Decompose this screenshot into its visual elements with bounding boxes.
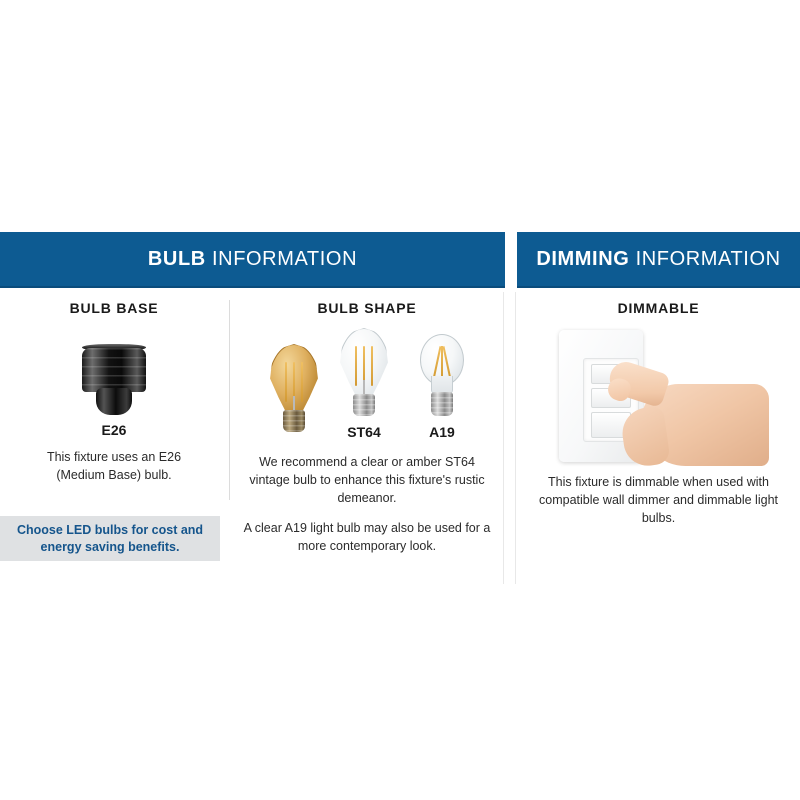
bulb-shape-paragraph-2: A clear A19 light bulb may also be used … xyxy=(232,520,502,556)
bulb-and-dimming-info-graphic: BULB INFORMATION DIMMING INFORMATION BUL… xyxy=(0,0,800,800)
bulb-information-title-bold: BULB xyxy=(148,248,206,270)
hand-thumb-shape xyxy=(619,405,671,469)
bulb-screw-base-shape xyxy=(283,410,305,432)
e26-screw-base-icon xyxy=(0,332,228,418)
panel-divider-right xyxy=(515,292,516,584)
bulb-screw-base-shape xyxy=(353,394,375,416)
e26-tip-shape xyxy=(96,388,132,415)
bulb-screw-base-shape xyxy=(431,392,453,416)
bulb-information-title-rest: INFORMATION xyxy=(206,248,357,270)
dimmable-heading: DIMMABLE xyxy=(517,300,800,316)
dimmable-description: This fixture is dimmable when used with … xyxy=(517,474,800,527)
panel-divider-left xyxy=(503,292,504,584)
bulb-shape-heading: BULB SHAPE xyxy=(232,300,502,316)
hand-illustration xyxy=(605,352,769,466)
hand-index-finger-shape xyxy=(605,358,671,408)
st64-amber-bulb-icon xyxy=(268,344,320,434)
bulb-base-description: This fixture uses an E26 (Medium Base) b… xyxy=(0,449,228,485)
bulb-shape-paragraph-1: We recommend a clear or amber ST64 vinta… xyxy=(232,454,502,507)
a19-clear-bulb-icon xyxy=(418,334,466,418)
bulb-information-title: BULB INFORMATION xyxy=(148,248,357,271)
bulb-base-column: BULB BASE E26 This fixture uses an E26 (… xyxy=(0,300,228,485)
hand-fingertip-shape xyxy=(605,376,633,404)
bulb-base-heading: BULB BASE xyxy=(0,300,228,316)
bulb-shape-illustrations: ST64 A19 xyxy=(232,328,502,440)
filament-shape xyxy=(301,362,303,402)
bulb-shape-column: BULB SHAPE xyxy=(232,300,502,556)
filament-stem-shape xyxy=(293,396,295,410)
bulb-item-clear-st64: ST64 xyxy=(338,328,390,440)
dimmable-column: DIMMABLE This fixture is dimmable when u… xyxy=(517,300,800,527)
filament-shape xyxy=(355,346,357,386)
filament-stem-shape xyxy=(363,380,365,394)
filament-shape xyxy=(441,346,443,380)
bulb-information-header-bar: BULB INFORMATION xyxy=(0,232,505,288)
bulb-label-st64: ST64 xyxy=(338,424,390,440)
wall-dimmer-switch-with-hand-icon xyxy=(549,326,769,466)
led-savings-callout-text: Choose LED bulbs for cost and energy sav… xyxy=(0,522,220,556)
bulb-label-a19: A19 xyxy=(418,424,466,440)
led-savings-callout: Choose LED bulbs for cost and energy sav… xyxy=(0,516,220,561)
filament-shape xyxy=(371,346,373,386)
bulb-item-a19: A19 xyxy=(418,334,466,440)
column-divider-bulb-base-shape xyxy=(229,300,230,500)
dimming-information-title-bold: DIMMING xyxy=(536,248,629,270)
dimming-information-title: DIMMING INFORMATION xyxy=(536,248,780,271)
bulb-item-amber-st64 xyxy=(268,344,320,440)
bulb-base-value-label: E26 xyxy=(0,422,228,438)
e26-threads-shape xyxy=(82,348,146,392)
st64-clear-bulb-icon xyxy=(338,328,390,418)
dimming-information-header-bar: DIMMING INFORMATION xyxy=(517,232,800,288)
dimming-information-title-rest: INFORMATION xyxy=(629,248,780,270)
filament-shape xyxy=(285,362,287,402)
